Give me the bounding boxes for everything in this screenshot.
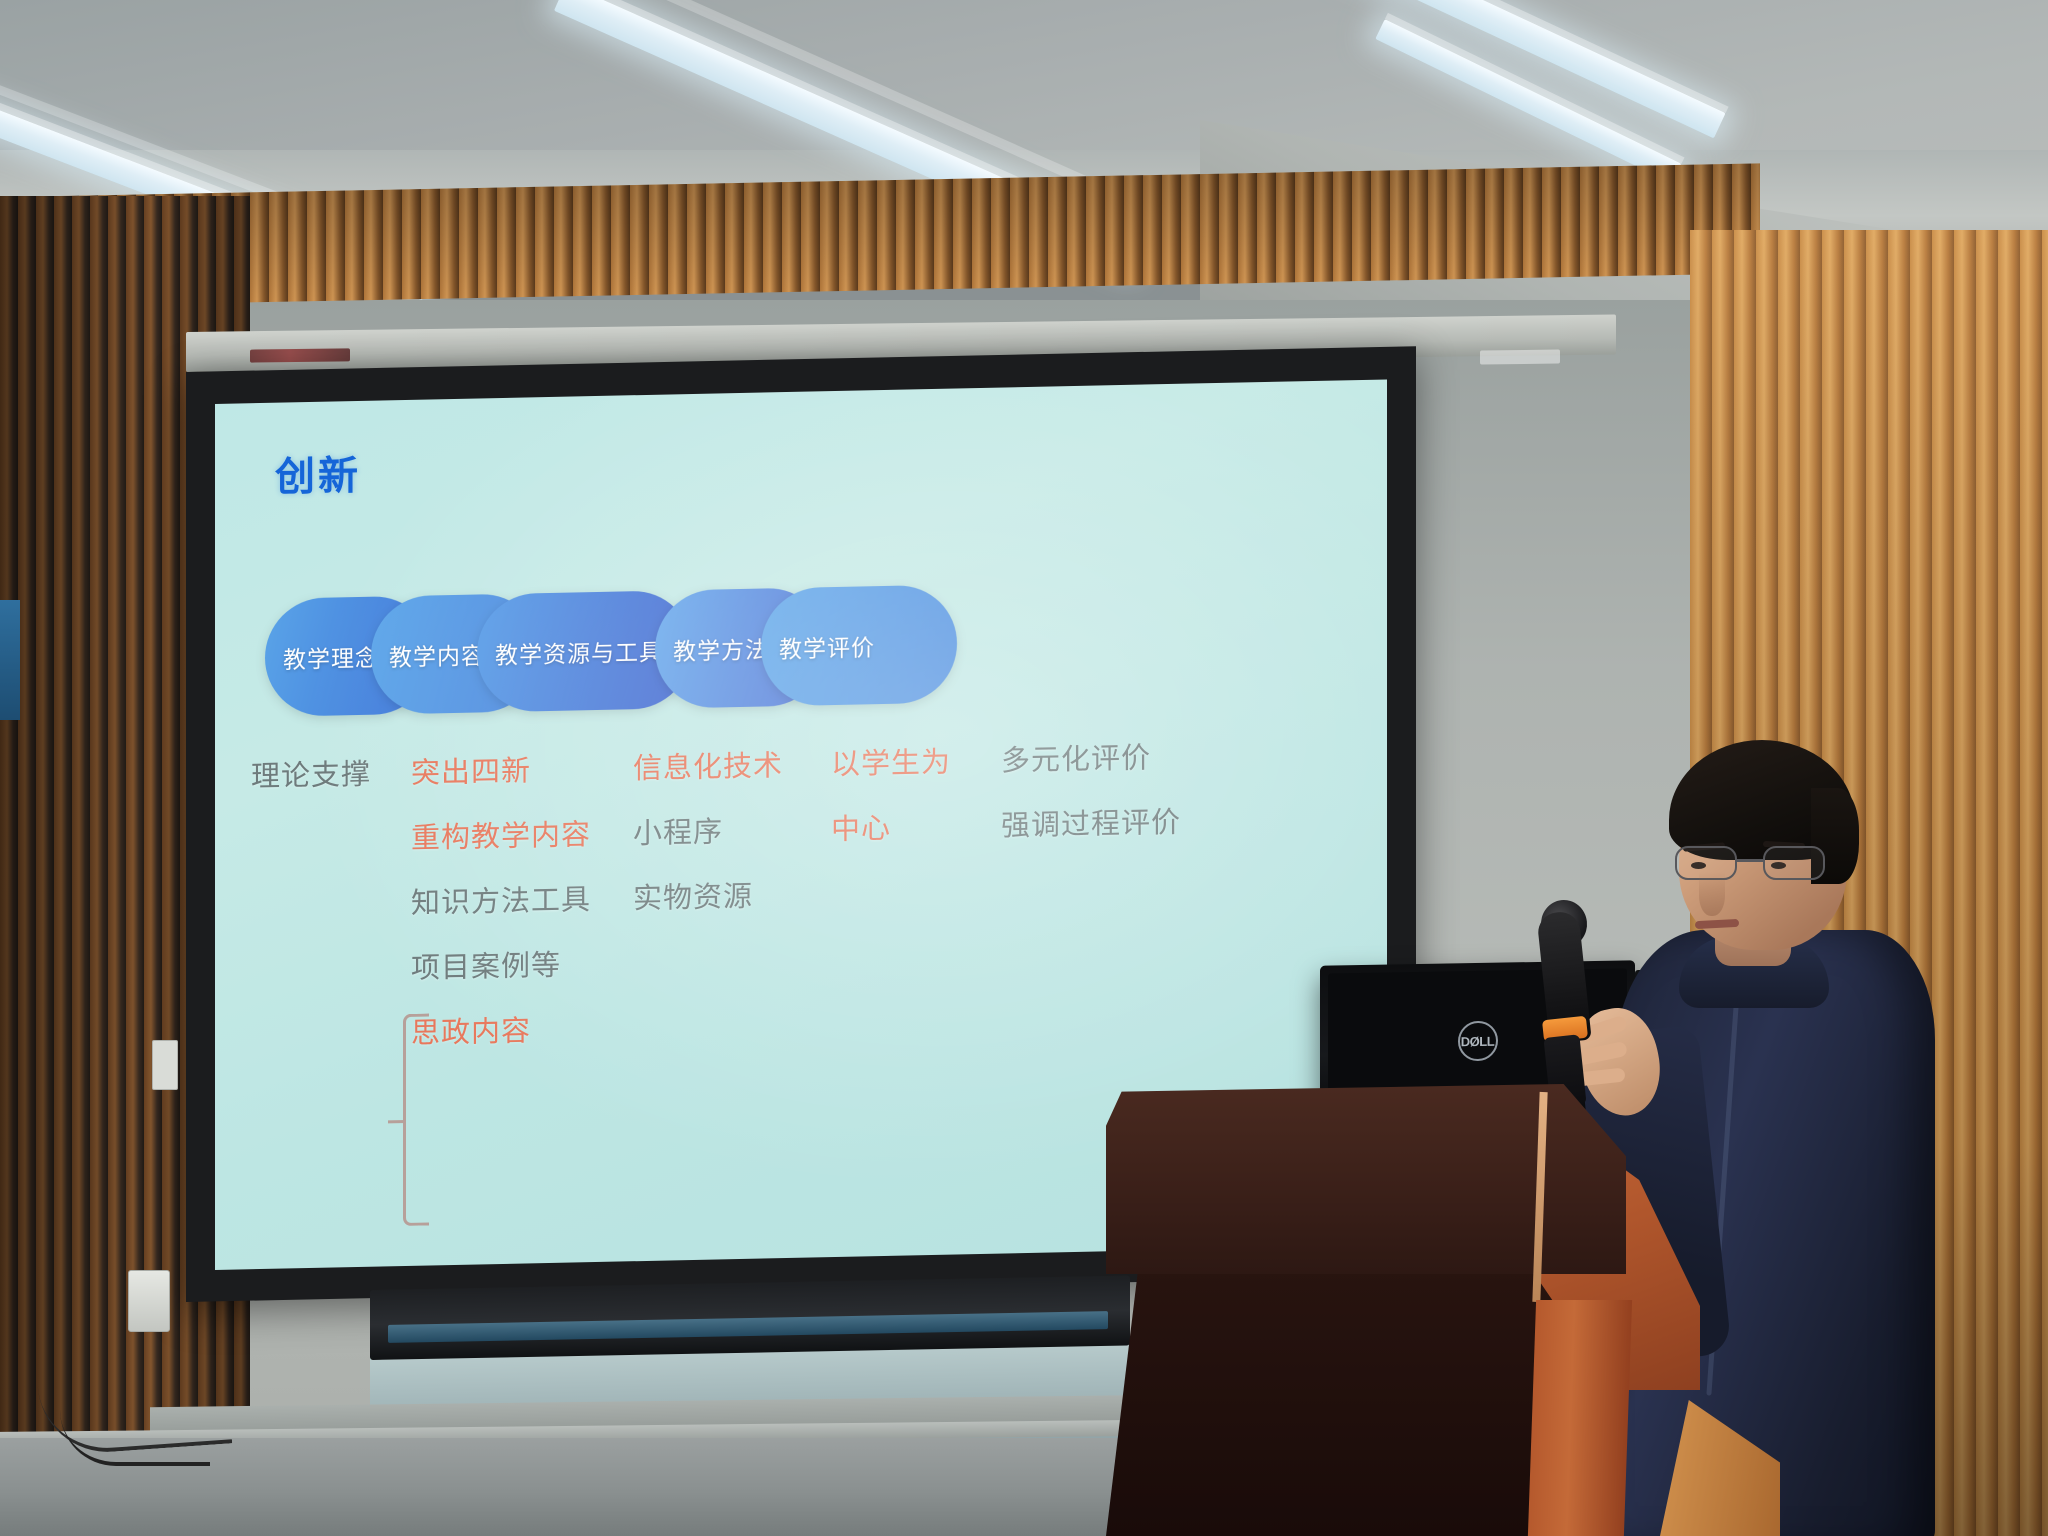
process-step-label: 教学方法: [673, 630, 769, 666]
glasses-lens: [1763, 846, 1825, 880]
slide-column-5: 多元化评价 强调过程评价: [1001, 742, 1251, 1072]
slide-text-item: 信息化技术: [633, 751, 831, 784]
lecture-hall-scene: 创新 教学理念 教学内容 教学资源与工具 教学方法 教学评价: [0, 0, 2048, 1536]
process-step-label: 教学资源与工具: [495, 633, 663, 671]
presenter-nose: [1699, 872, 1725, 916]
wall-switch: [152, 1040, 178, 1090]
slide-text-item: 重构教学内容: [411, 820, 633, 854]
podium-post: [1528, 1300, 1632, 1536]
process-chevron-row: 教学理念 教学内容 教学资源与工具 教学方法 教学评价: [265, 586, 893, 717]
slide-text-item: 理论支撑: [251, 760, 411, 792]
podium-top-surface: [1106, 1084, 1626, 1274]
glasses-bridge: [1737, 859, 1763, 862]
door-edge: [0, 600, 20, 720]
slide-column-1: 理论支撑: [229, 760, 411, 1089]
slide-text-item: 强调过程评价: [1001, 807, 1251, 841]
slide-text-item: 实物资源: [633, 881, 831, 914]
slide-text-item: 突出四新: [411, 755, 633, 789]
slide-text-item: 项目案例等: [411, 950, 633, 984]
eyeglasses-icon: [1671, 846, 1847, 880]
slide-text-item: 知识方法工具: [411, 885, 633, 919]
slide-column-2: 突出四新 重构教学内容 知识方法工具 项目案例等 思政内容: [411, 755, 633, 1085]
process-step-label: 教学内容: [389, 636, 485, 672]
slide-columns: 理论支撑 突出四新 重构教学内容 知识方法工具 项目案例等 思政内容 信息化技术…: [229, 739, 1387, 1088]
slide-text-item: 中心: [831, 813, 1001, 846]
slide-text-item: 小程序: [633, 816, 831, 849]
slide-text-item: 思政内容: [411, 1015, 633, 1049]
slide-text-item: 以学生为: [831, 748, 1001, 781]
slide-text-item: 多元化评价: [1001, 742, 1251, 776]
process-step-label: 教学评价: [779, 628, 875, 664]
slide-title: 创新: [275, 443, 361, 503]
screen-side-badge: [1480, 350, 1560, 365]
screen-brand-logo: [250, 348, 350, 362]
process-step-5: 教学评价: [761, 586, 893, 707]
process-step-label: 教学理念: [283, 639, 379, 675]
slide-column-3: 信息化技术 小程序 实物资源: [633, 751, 831, 1080]
presenter: [1595, 740, 1965, 1536]
podium-front-panel: [1106, 1230, 1566, 1536]
grouping-brace: [403, 1014, 429, 1227]
process-step-3: 教学资源与工具: [477, 590, 681, 712]
wall-outlet: [128, 1270, 170, 1332]
slide-column-4: 以学生为 中心: [831, 748, 1001, 1077]
